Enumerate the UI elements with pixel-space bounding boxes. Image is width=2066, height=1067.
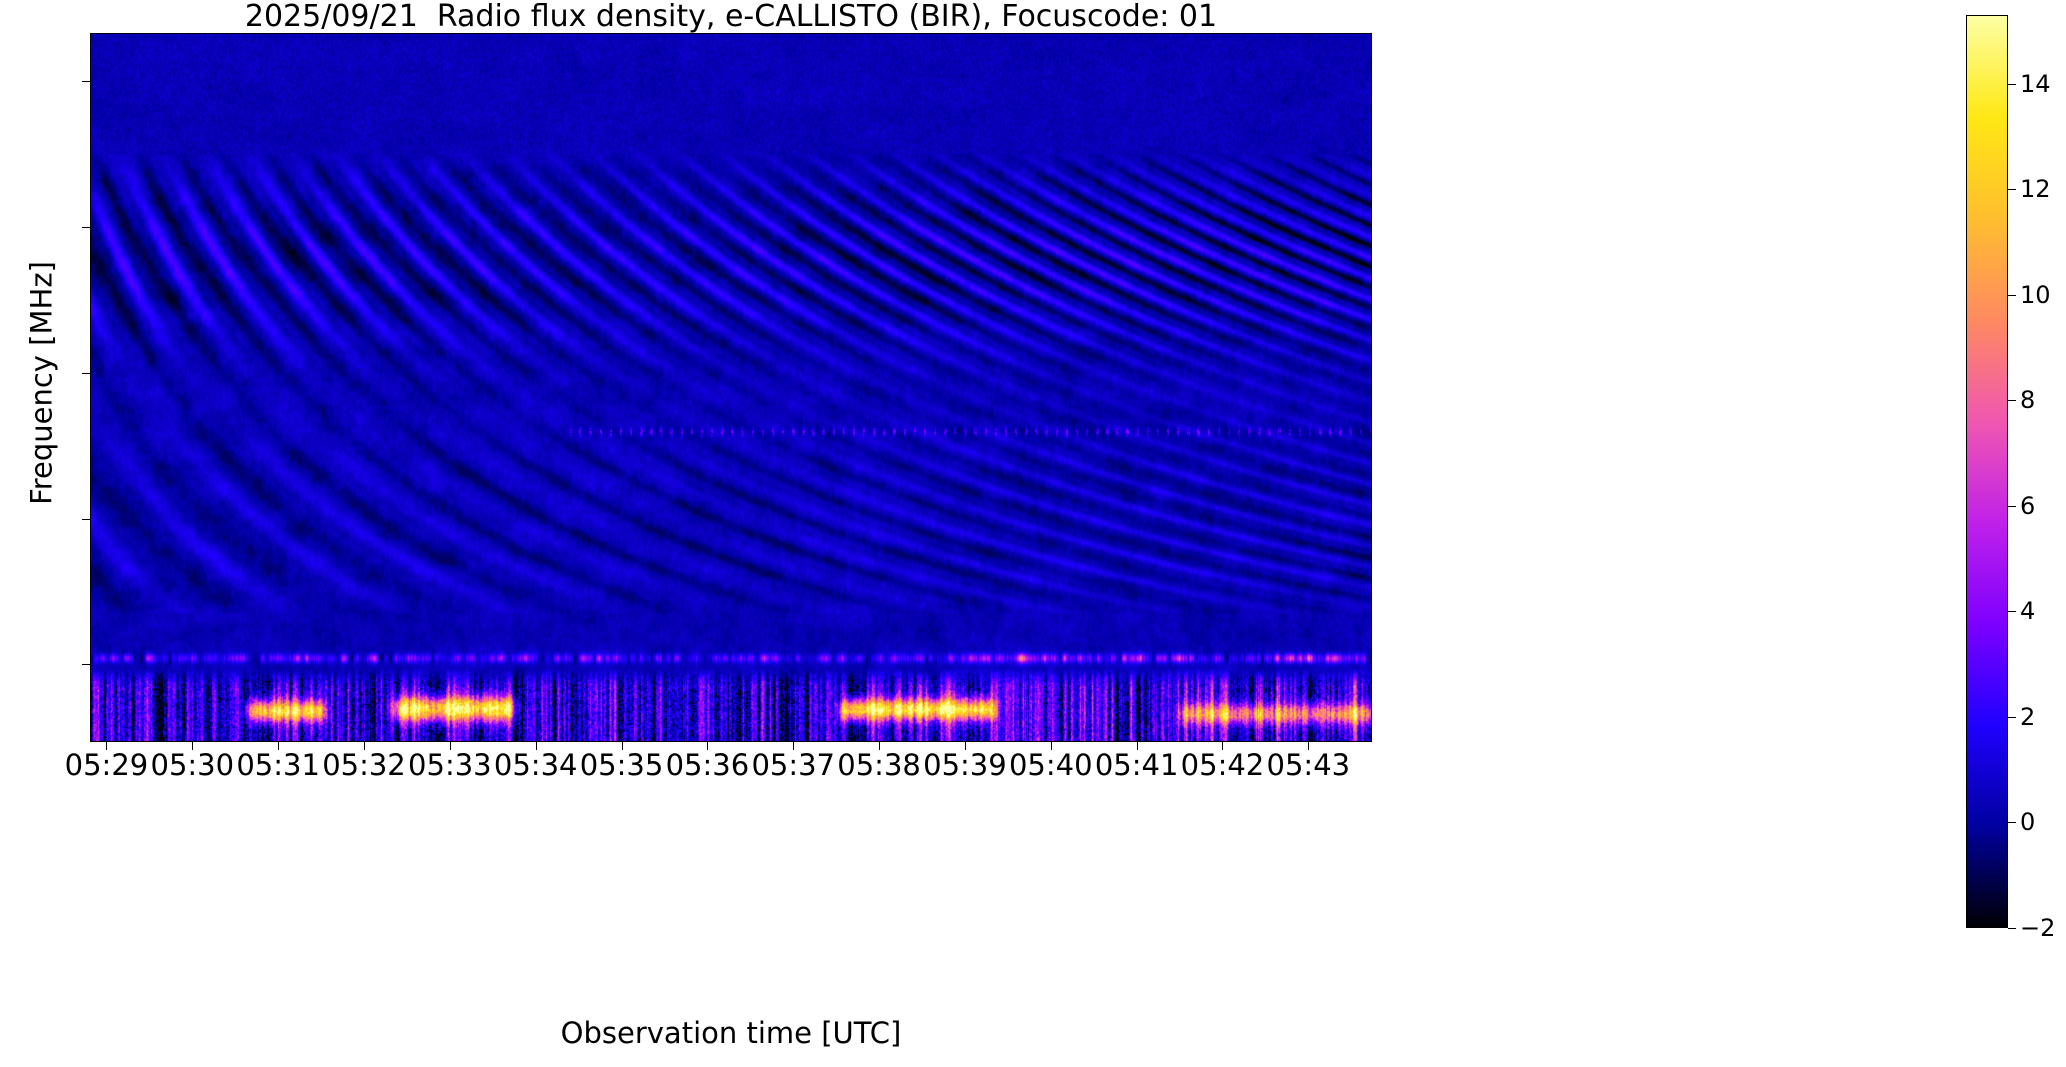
colorbar-tick-mark — [2008, 928, 2016, 929]
spectrogram-image — [91, 34, 1371, 741]
colorbar-tick-mark — [2008, 822, 2016, 823]
y-tick-mark — [82, 519, 90, 520]
colorbar-tick-mark — [2008, 189, 2016, 190]
page-title: 2025/09/21 Radio flux density, e-CALLIST… — [90, 2, 1372, 32]
colorbar-tick-label: 6 — [2020, 492, 2035, 520]
spectrogram-axes[interactable] — [90, 33, 1372, 742]
colorbar-tick-mark — [2008, 400, 2016, 401]
colorbar-gradient — [1967, 16, 2007, 927]
colorbar-tick-label: 4 — [2020, 597, 2035, 625]
colorbar-tick-label: 10 — [2020, 281, 2051, 309]
y-tick-mark — [82, 664, 90, 665]
colorbar[interactable] — [1966, 15, 2008, 928]
spectrogram-figure: 2025/09/21 Radio flux density, e-CALLIST… — [0, 0, 2066, 1067]
x-tick-mark — [1308, 742, 1309, 750]
y-tick-mark — [82, 373, 90, 374]
y-tick-mark — [82, 227, 90, 228]
x-axis-label: Observation time [UTC] — [90, 1016, 1372, 1050]
colorbar-tick-mark — [2008, 506, 2016, 507]
colorbar-tick-mark — [2008, 611, 2016, 612]
colorbar-tick-label: 2 — [2020, 703, 2035, 731]
y-axis-label: Frequency [MHz] — [25, 29, 59, 738]
colorbar-tick-mark — [2008, 295, 2016, 296]
colorbar-tick-label: 14 — [2020, 70, 2051, 98]
colorbar-tick-mark — [2008, 84, 2016, 85]
colorbar-tick-label: 12 — [2020, 175, 2051, 203]
colorbar-tick-label: 8 — [2020, 386, 2035, 414]
colorbar-tick-label: −2 — [2020, 914, 2055, 942]
y-tick-mark — [82, 81, 90, 82]
x-tick-label: 05:43 — [1208, 748, 1408, 782]
colorbar-tick-mark — [2008, 717, 2016, 718]
colorbar-tick-label: 0 — [2020, 808, 2035, 836]
